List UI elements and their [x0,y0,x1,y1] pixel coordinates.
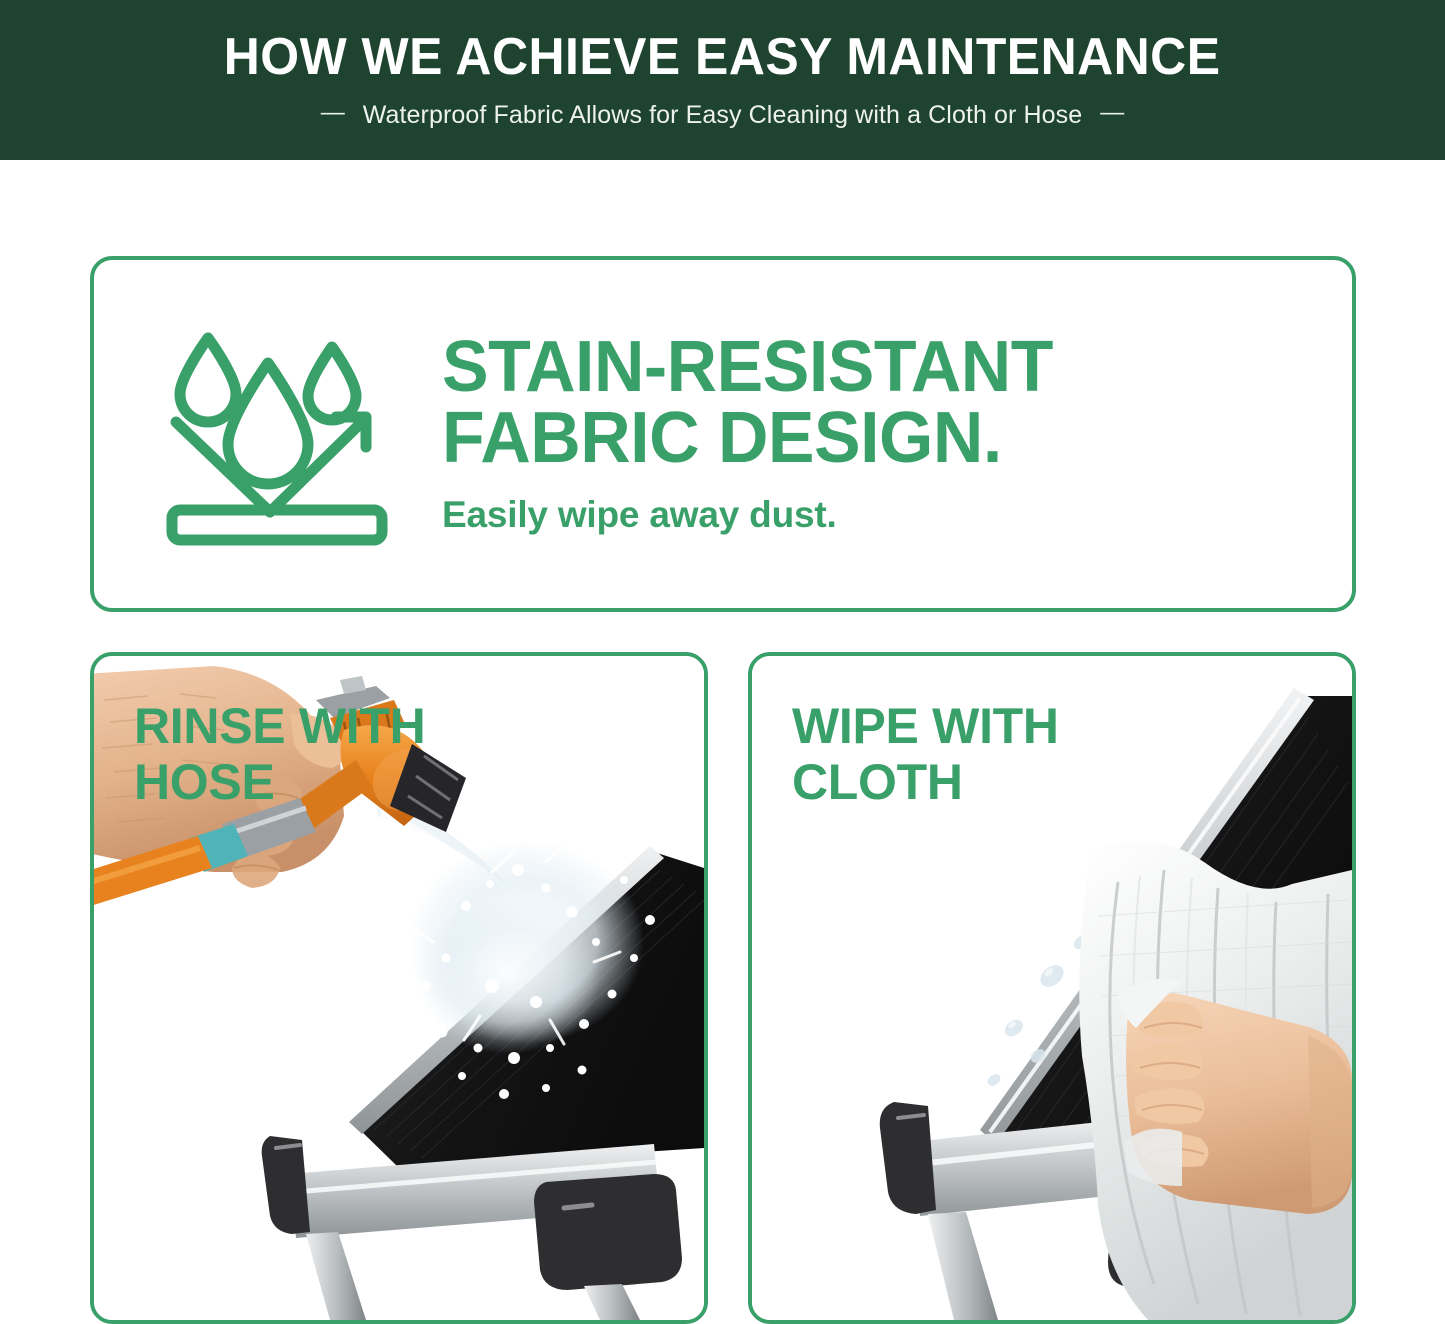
page-header: HOW WE ACHIEVE EASY MAINTENANCE — Waterp… [0,0,1445,160]
wipe-card-heading: WIPE WITH CLOTH [792,698,1059,810]
feature-headline-line2: FABRIC DESIGN. [442,403,1325,474]
wipe-with-cloth-card: WIPE WITH CLOTH [748,652,1356,1324]
water-repellent-fabric-icon [150,316,402,553]
dash-left-icon: — [321,101,345,125]
feature-card-stain-resistant: STAIN-RESISTANT FABRIC DESIGN. Easily wi… [90,256,1356,612]
rinse-with-hose-card: RINSE WITH HOSE [90,652,708,1324]
feature-subline: Easily wipe away dust. [442,494,1352,536]
feature-headline-line1: STAIN-RESISTANT [442,332,1325,403]
page-title: HOW WE ACHIEVE EASY MAINTENANCE [224,31,1221,83]
rinse-card-heading: RINSE WITH HOSE [134,698,425,810]
feature-text-block: STAIN-RESISTANT FABRIC DESIGN. Easily wi… [442,332,1352,535]
page-subtitle: Waterproof Fabric Allows for Easy Cleani… [363,101,1083,130]
subtitle-row: — Waterproof Fabric Allows for Easy Clea… [321,101,1125,130]
dash-right-icon: — [1100,101,1124,125]
